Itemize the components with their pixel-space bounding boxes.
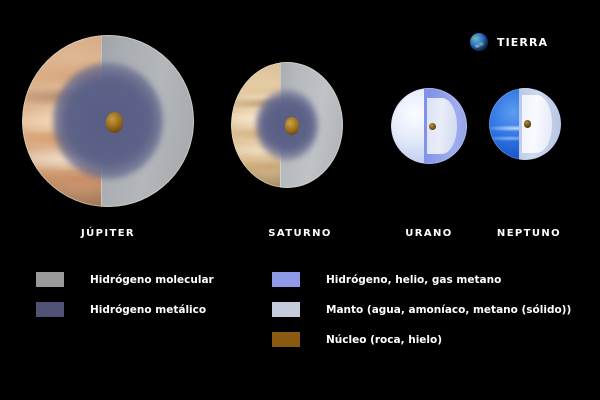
legend-item-hidrogeno-molecular: Hidrógeno molecular bbox=[36, 272, 214, 287]
planet-label-saturn: SATURNO bbox=[268, 228, 331, 239]
legend-swatch-hidrogeno-helio-metano bbox=[272, 272, 300, 287]
uranus-limb-rim bbox=[391, 88, 467, 164]
earth-globe-icon bbox=[470, 33, 488, 51]
legend-label-hidrogeno-metalico: Hidrógeno metálico bbox=[90, 304, 206, 316]
jupiter-limb-rim bbox=[22, 35, 194, 207]
saturn-limb-rim bbox=[231, 62, 343, 188]
legend-swatch-hidrogeno-metalico bbox=[36, 302, 64, 317]
planet-neptune bbox=[489, 88, 561, 160]
planet-uranus bbox=[391, 88, 467, 164]
legend-item-hidrogeno-helio-metano: Hidrógeno, helio, gas metano bbox=[272, 272, 571, 287]
legend-swatch-manto bbox=[272, 302, 300, 317]
planet-label-jupiter: JÚPITER bbox=[81, 228, 135, 239]
planet-jupiter bbox=[22, 35, 194, 207]
legend-label-hidrogeno-molecular: Hidrógeno molecular bbox=[90, 274, 214, 286]
legend-right-column: Hidrógeno, helio, gas metano Manto (agua… bbox=[272, 272, 571, 362]
planet-label-neptune: NEPTUNO bbox=[497, 228, 561, 239]
earth-scale-badge: TIERRA bbox=[470, 33, 548, 51]
legend-left-column: Hidrógeno molecular Hidrógeno metálico bbox=[36, 272, 214, 332]
planet-label-uranus: URANO bbox=[405, 228, 452, 239]
legend-label-nucleo: Núcleo (roca, hielo) bbox=[326, 334, 442, 346]
planet-interiors-diagram: TIERRA JÚPITER SATURNO URANO NEPTUNO Hid… bbox=[0, 0, 600, 400]
earth-label: TIERRA bbox=[497, 36, 548, 49]
legend-label-manto: Manto (agua, amoníaco, metano (sólido)) bbox=[326, 304, 571, 316]
legend-swatch-hidrogeno-molecular bbox=[36, 272, 64, 287]
legend-label-hidrogeno-helio-metano: Hidrógeno, helio, gas metano bbox=[326, 274, 501, 286]
planet-saturn bbox=[231, 62, 343, 188]
legend-item-nucleo: Núcleo (roca, hielo) bbox=[272, 332, 571, 347]
legend-item-manto: Manto (agua, amoníaco, metano (sólido)) bbox=[272, 302, 571, 317]
neptune-limb-rim bbox=[489, 88, 561, 160]
legend-swatch-nucleo bbox=[272, 332, 300, 347]
legend-item-hidrogeno-metalico: Hidrógeno metálico bbox=[36, 302, 214, 317]
